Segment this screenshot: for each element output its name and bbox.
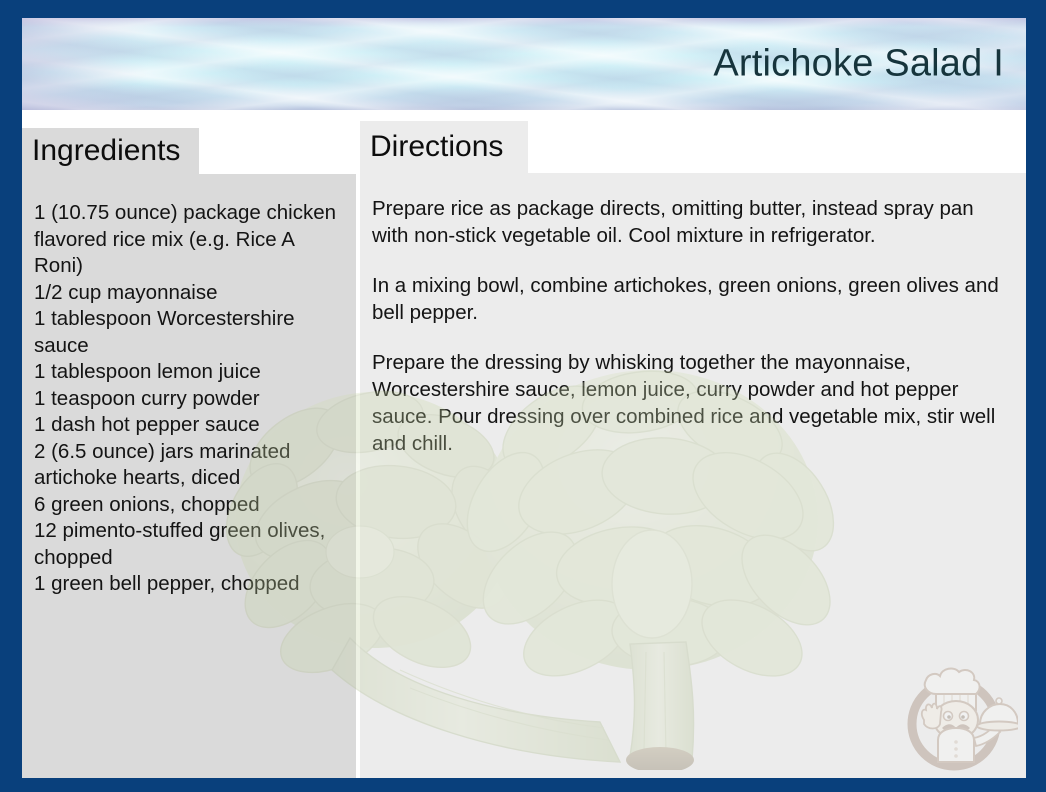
- list-item: 12 pimento-stuffed green olives, chopped: [34, 518, 342, 571]
- card-canvas: Artichoke Salad I: [22, 18, 1026, 778]
- list-item: 1 dash hot pepper sauce: [34, 412, 342, 439]
- list-item: 1 tablespoon lemon juice: [34, 359, 342, 386]
- directions-tab: Directions: [360, 121, 528, 173]
- ingredients-body: 1 (10.75 ounce) package chicken flavored…: [22, 174, 356, 778]
- directions-panel: Directions Prepare rice as package direc…: [360, 121, 1026, 778]
- ingredients-panel: Ingredients 1 (10.75 ounce) package chic…: [22, 128, 356, 778]
- directions-body: Prepare rice as package directs, omittin…: [360, 173, 1026, 778]
- directions-heading: Directions: [370, 130, 503, 164]
- list-item: 1 teaspoon curry powder: [34, 386, 342, 413]
- ingredients-tab: Ingredients: [22, 128, 199, 174]
- list-item: 1/2 cup mayonnaise: [34, 280, 342, 307]
- list-item: 1 (10.75 ounce) package chicken flavored…: [34, 200, 342, 280]
- list-item: 2 (6.5 ounce) jars marinated artichoke h…: [34, 439, 342, 492]
- ingredient-list: 1 (10.75 ounce) package chicken flavored…: [34, 200, 342, 598]
- recipe-title: Artichoke Salad I: [713, 43, 1004, 86]
- direction-step: Prepare the dressing by whisking togethe…: [372, 349, 1010, 457]
- list-item: 6 green onions, chopped: [34, 492, 342, 519]
- recipe-card: Artichoke Salad I: [0, 0, 1046, 792]
- list-item: 1 tablespoon Worcestershire sauce: [34, 306, 342, 359]
- direction-step: In a mixing bowl, combine artichokes, gr…: [372, 272, 1010, 326]
- header-banner: Artichoke Salad I: [22, 18, 1026, 110]
- list-item: 1 green bell pepper, chopped: [34, 571, 342, 598]
- direction-step: Prepare rice as package directs, omittin…: [372, 195, 1010, 249]
- ingredients-heading: Ingredients: [32, 134, 180, 168]
